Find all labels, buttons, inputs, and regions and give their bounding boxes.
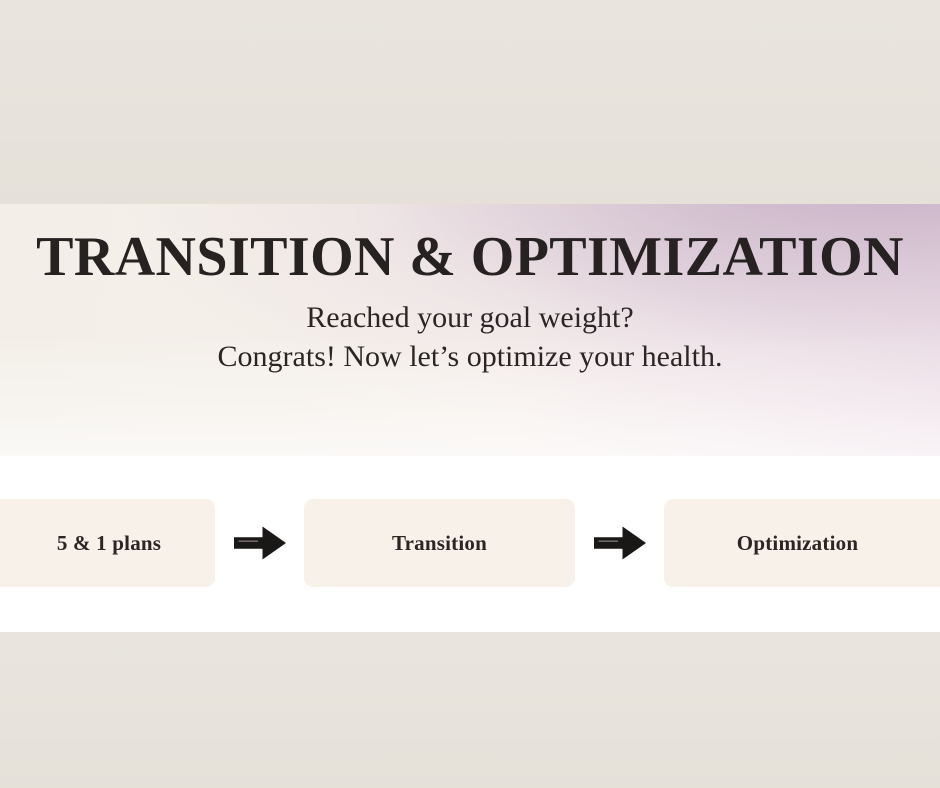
flow-step-label: 5 & 1 plans: [57, 531, 161, 556]
header-text-group: TRANSITION & OPTIMIZATION Reached your g…: [0, 204, 940, 376]
subtitle-line-1: Reached your goal weight?: [0, 299, 940, 337]
flow-step-label: Optimization: [737, 531, 858, 556]
subtitle-line-2: Congrats! Now let’s optimize your health…: [0, 338, 940, 376]
curved-divider-shape: [0, 608, 940, 632]
banner-card: TRANSITION & OPTIMIZATION Reached your g…: [0, 204, 940, 632]
page-title: TRANSITION & OPTIMIZATION: [0, 204, 940, 287]
subtitle-block: Reached your goal weight? Congrats! Now …: [0, 299, 940, 376]
arrow-right-icon: [215, 525, 304, 561]
flow-step-label: Transition: [392, 531, 487, 556]
flow-step-transition[interactable]: Transition: [304, 499, 575, 587]
bottom-background-band: [0, 632, 940, 788]
banner-canvas: TRANSITION & OPTIMIZATION Reached your g…: [0, 0, 940, 788]
flow-step-optimization[interactable]: Optimization: [664, 499, 940, 587]
arrow-right-icon: [575, 525, 664, 561]
top-background-band: [0, 0, 940, 206]
flow-step-plans[interactable]: 5 & 1 plans: [0, 499, 215, 587]
process-flow-row: 5 & 1 plans Transition Optimization: [0, 497, 940, 589]
